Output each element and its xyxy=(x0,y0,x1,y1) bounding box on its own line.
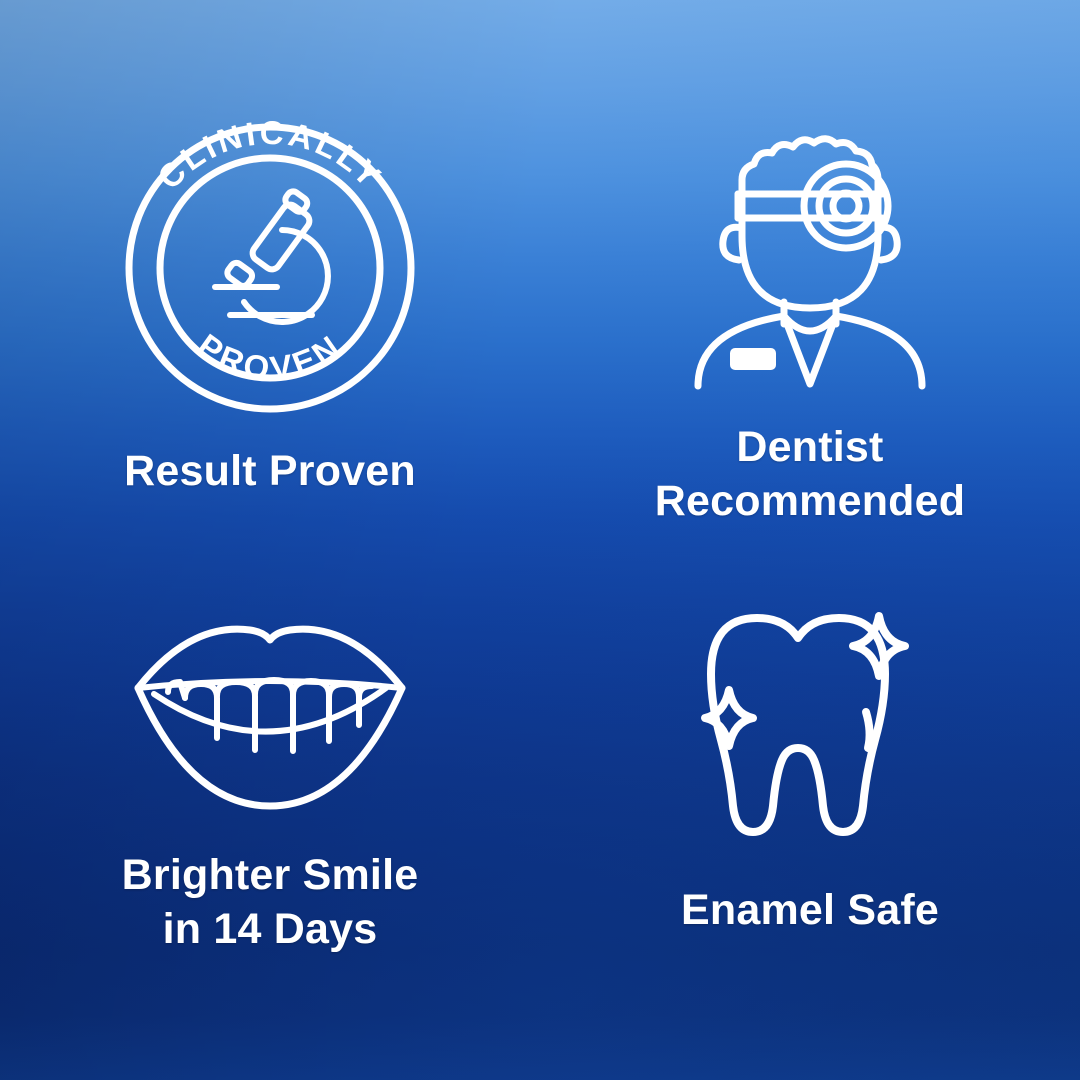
feature-card-result-proven[interactable]: CLINICALLY PROVEN xyxy=(0,0,540,540)
feature-label-brighter-smile: Brighter Smile in 14 Days xyxy=(122,848,419,956)
feature-grid: CLINICALLY PROVEN xyxy=(0,0,1080,1080)
clinically-proven-badge-icon: CLINICALLY PROVEN xyxy=(120,118,420,418)
sparkling-tooth-icon xyxy=(695,608,925,843)
microscope-icon xyxy=(215,189,328,322)
dentist-icon xyxy=(680,110,940,390)
feature-card-dentist-recommended[interactable]: Dentist Recommended xyxy=(540,0,1080,540)
smile-teeth-icon xyxy=(130,610,410,810)
feature-card-enamel-safe[interactable]: Enamel Safe xyxy=(540,540,1080,1080)
badge-arc-bottom-text: PROVEN xyxy=(191,326,349,387)
feature-card-brighter-smile[interactable]: Brighter Smile in 14 Days xyxy=(0,540,540,1080)
name-badge xyxy=(730,348,776,370)
feature-label-result-proven: Result Proven xyxy=(124,444,416,498)
promo-feature-graphic: CLINICALLY PROVEN xyxy=(0,0,1080,1080)
feature-label-dentist-recommended: Dentist Recommended xyxy=(655,420,965,528)
feature-label-enamel-safe: Enamel Safe xyxy=(681,883,939,937)
